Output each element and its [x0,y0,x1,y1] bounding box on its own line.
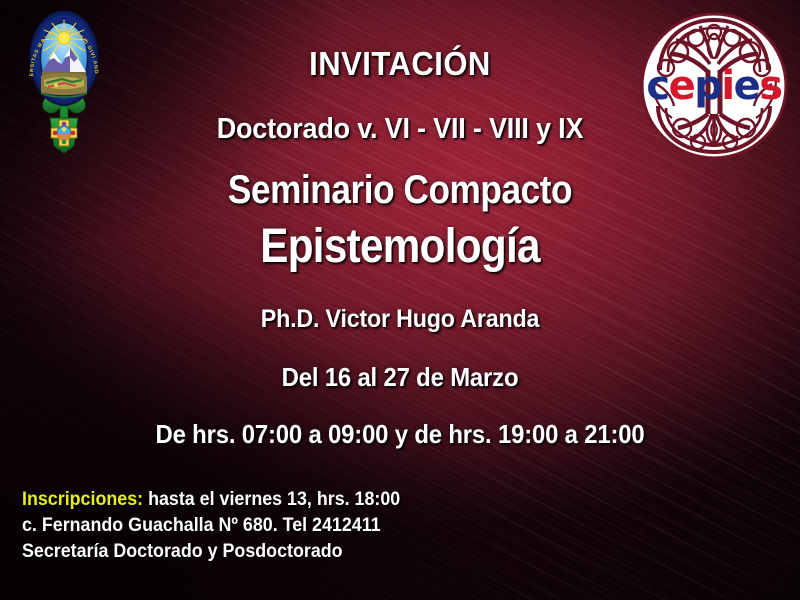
invitation-heading: INVITACIÓN [24,45,776,83]
registration-deadline: hasta el viernes 13, hrs. 18:00 [148,489,400,510]
registration-label: Inscripciones: [22,489,143,510]
event-type-title: Seminario Compacto [48,168,752,213]
contact-address: c. Fernando Guachalla Nº 680. Tel 241241… [22,513,400,539]
office-name: Secretaría Doctorado y Posdoctorado [22,539,400,565]
speaker-name: Ph.D. Victor Hugo Aranda [28,305,772,334]
event-dates: Del 16 al 27 de Marzo [32,362,768,393]
invitation-poster: UNIVERSITAS MAJOR PACENSIS DIVI ANDREAE [0,0,800,600]
registration-line: Inscripciones: hasta el viernes 13, hrs.… [22,487,400,513]
event-schedule: De hrs. 07:00 a 09:00 y de hrs. 19:00 a … [32,419,768,450]
event-topic-title: Epistemología [48,219,752,274]
program-line: Doctorado v. VI - VII - VIII y IX [28,113,772,146]
registration-block: Inscripciones: hasta el viernes 13, hrs.… [22,487,424,565]
